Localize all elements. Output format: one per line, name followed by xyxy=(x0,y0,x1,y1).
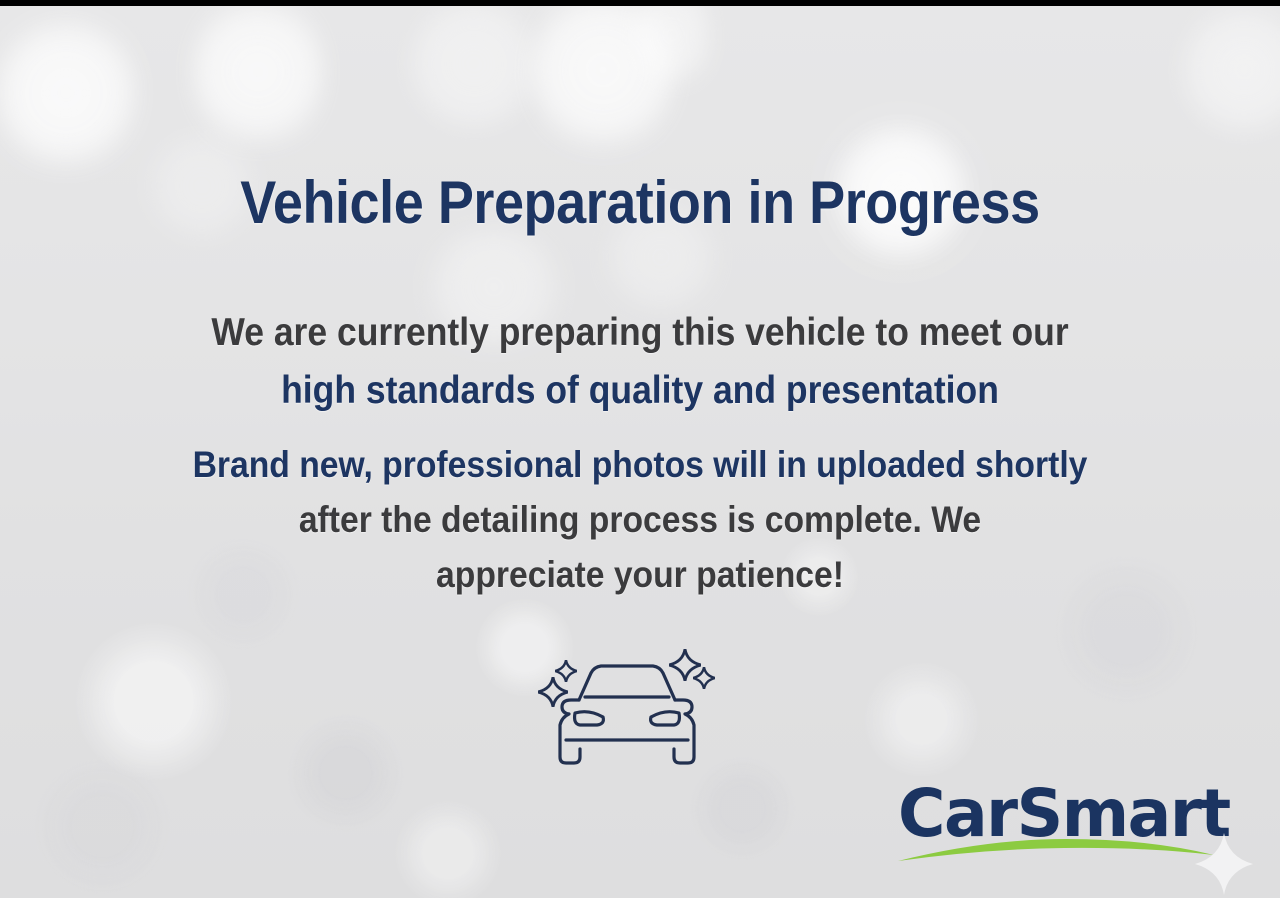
letterbox-bar-top xyxy=(0,0,1280,6)
vehicle-preparation-banner: Vehicle Preparation in Progress We are c… xyxy=(0,0,1280,898)
page-title: Vehicle Preparation in Progress xyxy=(64,168,1216,237)
paragraph-primary-line-1: We are currently preparing this vehicle … xyxy=(58,304,1223,362)
paragraph-secondary: Brand new, professional photos will in u… xyxy=(0,437,1280,602)
paragraph-secondary-line-3: appreciate your patience! xyxy=(58,547,1223,602)
paragraph-secondary-line-1: Brand new, professional photos will in u… xyxy=(58,437,1223,492)
banner-content: Vehicle Preparation in Progress We are c… xyxy=(0,0,1280,898)
sparkle-icon xyxy=(693,667,715,689)
paragraph-primary: We are currently preparing this vehicle … xyxy=(0,304,1280,420)
star-sparkle-icon xyxy=(1195,833,1253,895)
paragraph-secondary-line-2: after the detailing process is complete.… xyxy=(58,492,1223,547)
paragraph-primary-line-2: high standards of quality and presentati… xyxy=(58,362,1223,420)
sparkling-car-icon xyxy=(527,645,727,780)
carsmart-logo: CarSmart xyxy=(890,775,1230,885)
green-swoosh-icon xyxy=(896,837,1216,863)
sparkle-icon xyxy=(538,677,568,707)
